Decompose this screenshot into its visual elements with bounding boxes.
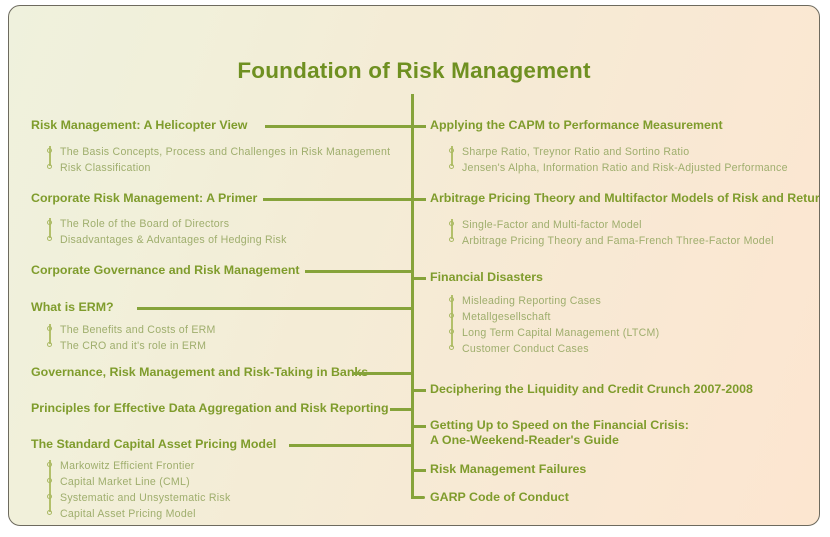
- list-item[interactable]: The Benefits and Costs of ERM: [49, 320, 216, 336]
- bullet-node-icon: [449, 148, 454, 153]
- list-item[interactable]: Jensen's Alpha, Information Ratio and Ri…: [451, 158, 788, 174]
- node-right-0[interactable]: Applying the CAPM to Performance Measure…: [430, 118, 723, 133]
- list-item-label: Markowitz Efficient Frontier: [60, 460, 195, 472]
- list-item[interactable]: The Role of the Board of Directors: [49, 214, 287, 230]
- node-left-2[interactable]: Corporate Governance and Risk Management: [31, 263, 300, 278]
- node-right-0-label: Applying the CAPM to Performance Measure…: [430, 118, 723, 133]
- diagram-canvas: Foundation of Risk Management Risk Manag…: [0, 0, 830, 537]
- node-left-0-label: Risk Management: A Helicopter View: [31, 118, 247, 133]
- connector-left-5: [390, 408, 413, 411]
- node-right-3[interactable]: Deciphering the Liquidity and Credit Cru…: [430, 382, 753, 397]
- subs-left-1: The Role of the Board of Directors Disad…: [49, 214, 287, 246]
- bullet-node-icon: [449, 164, 454, 169]
- node-left-3-label: What is ERM?: [31, 300, 114, 315]
- connector-right-3: [413, 389, 426, 392]
- node-right-6[interactable]: GARP Code of Conduct: [430, 490, 569, 505]
- list-item-label: Risk Classification: [60, 162, 151, 174]
- bullet-node-icon: [449, 345, 454, 350]
- list-item[interactable]: Misleading Reporting Cases: [451, 291, 659, 307]
- list-item[interactable]: Long Term Capital Management (LTCM): [451, 323, 659, 339]
- bullet-node-icon: [449, 313, 454, 318]
- node-left-0[interactable]: Risk Management: A Helicopter View: [31, 118, 247, 133]
- node-right-5-label: Risk Management Failures: [430, 462, 586, 477]
- spine-foot-connector: [411, 496, 425, 499]
- connector-right-5: [413, 469, 426, 472]
- bullet-node-icon: [449, 297, 454, 302]
- bullet-node-icon: [47, 510, 52, 515]
- list-item[interactable]: Single-Factor and Multi-factor Model: [451, 215, 774, 231]
- list-item-label: Capital Market Line (CML): [60, 476, 190, 488]
- connector-right-4: [413, 425, 426, 428]
- list-item-label: Misleading Reporting Cases: [462, 295, 601, 307]
- subs-right-0: Sharpe Ratio, Treynor Ratio and Sortino …: [451, 142, 788, 174]
- list-item[interactable]: Sharpe Ratio, Treynor Ratio and Sortino …: [451, 142, 788, 158]
- list-item-label: Single-Factor and Multi-factor Model: [462, 219, 642, 231]
- node-right-4-label: Getting Up to Speed on the Financial Cri…: [430, 418, 689, 433]
- connector-left-6: [289, 444, 413, 447]
- list-item[interactable]: Systematic and Unsystematic Risk: [49, 488, 231, 504]
- bullet-node-icon: [47, 494, 52, 499]
- node-right-6-label: GARP Code of Conduct: [430, 490, 569, 505]
- node-left-6-label: The Standard Capital Asset Pricing Model: [31, 437, 276, 452]
- list-item[interactable]: The CRO and it's role in ERM: [49, 336, 216, 352]
- list-item-label: Disadvantages & Advantages of Hedging Ri…: [60, 234, 287, 246]
- node-left-5[interactable]: Principles for Effective Data Aggregatio…: [31, 401, 389, 416]
- list-item[interactable]: Markowitz Efficient Frontier: [49, 456, 231, 472]
- node-left-3[interactable]: What is ERM?: [31, 300, 114, 315]
- connector-left-4: [352, 372, 413, 375]
- node-left-4-label: Governance, Risk Management and Risk-Tak…: [31, 365, 368, 380]
- list-item[interactable]: Disadvantages & Advantages of Hedging Ri…: [49, 230, 287, 246]
- connector-left-2: [305, 270, 413, 273]
- list-item-label: The CRO and it's role in ERM: [60, 340, 206, 352]
- list-item-label: Capital Asset Pricing Model: [60, 508, 196, 520]
- central-spine: [411, 94, 414, 499]
- bullet-node-icon: [47, 478, 52, 483]
- list-item[interactable]: Customer Conduct Cases: [451, 339, 659, 355]
- subs-right-2: Misleading Reporting Cases Metallgesells…: [451, 291, 659, 355]
- node-right-2-label: Financial Disasters: [430, 270, 543, 285]
- node-left-1-label: Corporate Risk Management: A Primer: [31, 191, 257, 206]
- subs-right-1: Single-Factor and Multi-factor Model Arb…: [451, 215, 774, 247]
- node-left-4[interactable]: Governance, Risk Management and Risk-Tak…: [31, 365, 368, 380]
- bullet-node-icon: [47, 462, 52, 467]
- page-title: Foundation of Risk Management: [9, 58, 819, 84]
- node-right-4[interactable]: Getting Up to Speed on the Financial Cri…: [430, 418, 689, 448]
- connector-right-1: [413, 198, 426, 201]
- list-item[interactable]: Capital Market Line (CML): [49, 472, 231, 488]
- list-item-label: The Basis Concepts, Process and Challeng…: [60, 146, 390, 158]
- list-item[interactable]: Arbitrage Pricing Theory and Fama-French…: [451, 231, 774, 247]
- bullet-node-icon: [47, 326, 52, 331]
- node-left-5-label: Principles for Effective Data Aggregatio…: [31, 401, 389, 416]
- bullet-node-icon: [47, 220, 52, 225]
- list-item-label: Customer Conduct Cases: [462, 343, 589, 355]
- list-item-label: Systematic and Unsystematic Risk: [60, 492, 231, 504]
- node-right-3-label: Deciphering the Liquidity and Credit Cru…: [430, 382, 753, 397]
- node-right-1[interactable]: Arbitrage Pricing Theory and Multifactor…: [430, 191, 820, 206]
- list-item-label: The Benefits and Costs of ERM: [60, 324, 216, 336]
- node-left-2-label: Corporate Governance and Risk Management: [31, 263, 300, 278]
- bullet-node-icon: [449, 329, 454, 334]
- subs-left-3: The Benefits and Costs of ERM The CRO an…: [49, 320, 216, 352]
- bullet-node-icon: [47, 342, 52, 347]
- list-item-label: Long Term Capital Management (LTCM): [462, 327, 659, 339]
- connector-right-0: [413, 125, 426, 128]
- list-item[interactable]: Capital Asset Pricing Model: [49, 504, 231, 520]
- bullet-node-icon: [47, 148, 52, 153]
- list-item[interactable]: Risk Classification: [49, 158, 390, 174]
- bullet-node-icon: [449, 221, 454, 226]
- bullet-node-icon: [449, 237, 454, 242]
- list-item-label: Sharpe Ratio, Treynor Ratio and Sortino …: [462, 146, 689, 158]
- list-item-label: The Role of the Board of Directors: [60, 218, 229, 230]
- node-left-1[interactable]: Corporate Risk Management: A Primer: [31, 191, 257, 206]
- bullet-node-icon: [47, 236, 52, 241]
- connector-left-1: [263, 198, 413, 201]
- node-right-1-label: Arbitrage Pricing Theory and Multifactor…: [430, 191, 820, 206]
- list-item[interactable]: Metallgesellschaft: [451, 307, 659, 323]
- node-right-5[interactable]: Risk Management Failures: [430, 462, 586, 477]
- node-right-2[interactable]: Financial Disasters: [430, 270, 543, 285]
- connector-right-2: [413, 277, 426, 280]
- list-item-label: Arbitrage Pricing Theory and Fama-French…: [462, 235, 774, 247]
- list-item-label: Jensen's Alpha, Information Ratio and Ri…: [462, 162, 788, 174]
- node-right-4-label-line2: A One-Weekend-Reader's Guide: [430, 433, 689, 448]
- subs-left-0: The Basis Concepts, Process and Challeng…: [49, 142, 390, 174]
- list-item[interactable]: The Basis Concepts, Process and Challeng…: [49, 142, 390, 158]
- subs-left-6: Markowitz Efficient Frontier Capital Mar…: [49, 456, 231, 520]
- connector-left-0: [265, 125, 413, 128]
- list-item-label: Metallgesellschaft: [462, 311, 551, 323]
- node-left-6[interactable]: The Standard Capital Asset Pricing Model: [31, 437, 276, 452]
- diagram-board: Foundation of Risk Management Risk Manag…: [8, 5, 820, 526]
- bullet-node-icon: [47, 164, 52, 169]
- connector-left-3: [137, 307, 413, 310]
